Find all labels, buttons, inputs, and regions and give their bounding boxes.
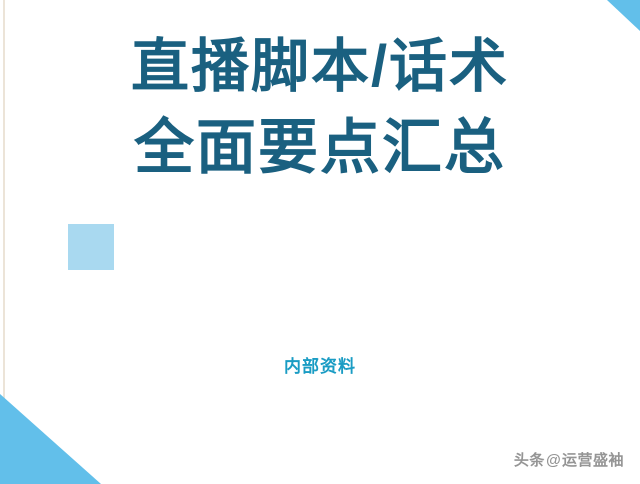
bottom-left-corner-triangle	[0, 394, 101, 484]
watermark-author: 运营盛袖	[562, 452, 624, 469]
top-right-corner-triangle	[607, 0, 640, 31]
slide-title: 直播脚本/话术 全面要点汇总	[0, 38, 640, 178]
slide-subtitle: 内部资料	[0, 352, 640, 377]
watermark-source: 头条	[514, 452, 545, 469]
accent-square	[68, 224, 114, 270]
watermark-at-symbol: @	[545, 452, 562, 469]
watermark: 头条@运营盛袖	[514, 449, 624, 470]
slide-canvas: 直播脚本/话术 全面要点汇总 内部资料 头条@运营盛袖	[0, 0, 640, 484]
title-line-1: 直播脚本/话术	[0, 38, 640, 96]
title-line-2: 全面要点汇总	[0, 118, 640, 178]
